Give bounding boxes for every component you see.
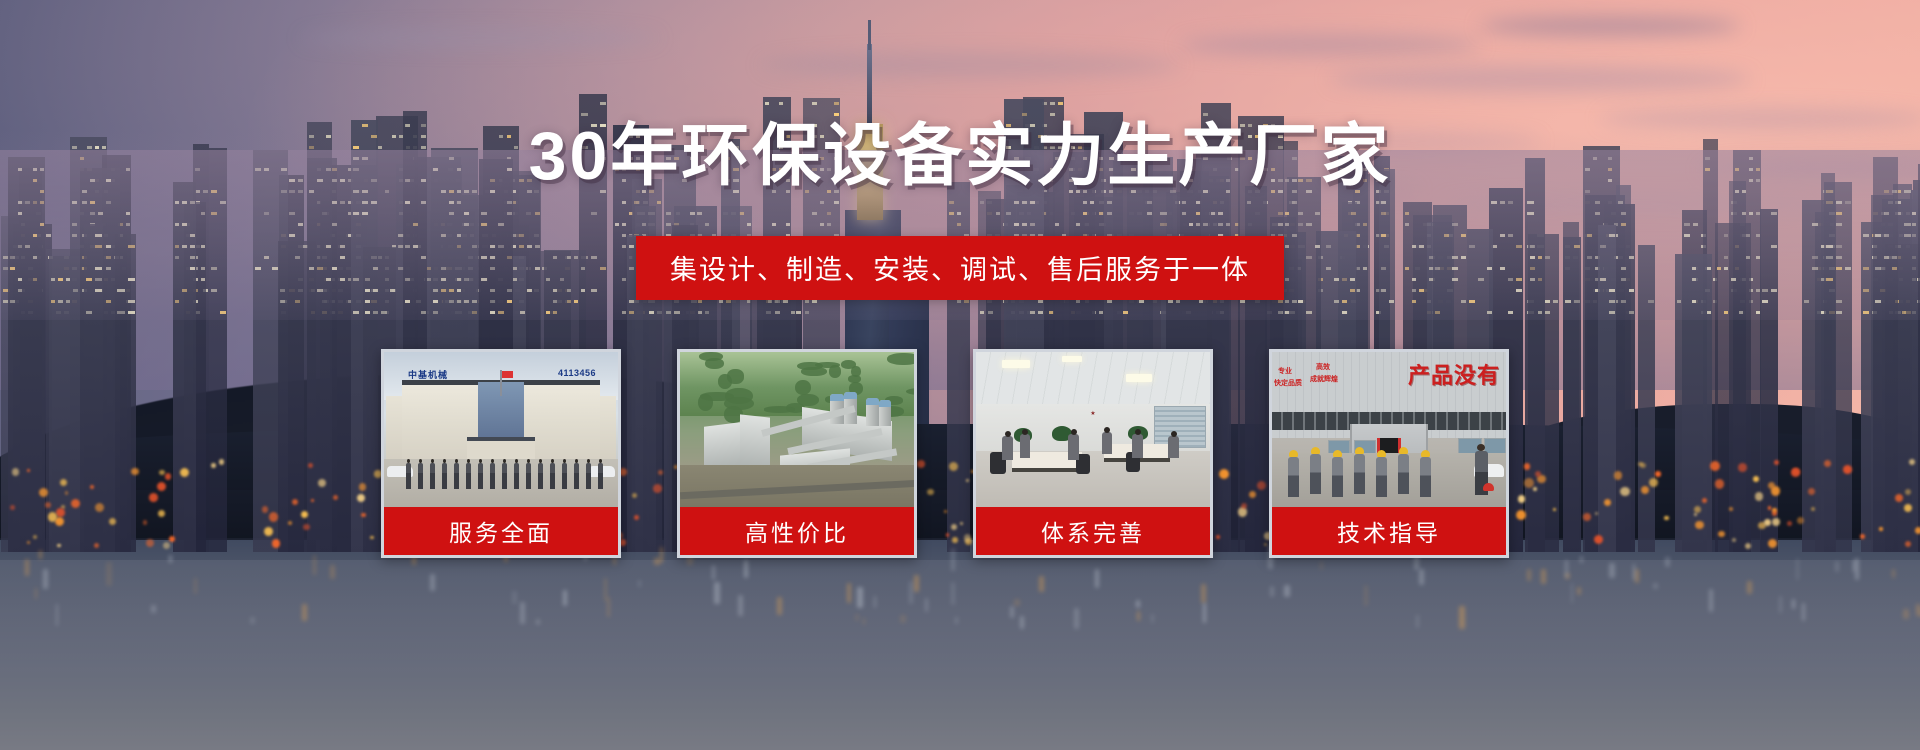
feature-card-system[interactable]: ★ 体系完善 — [973, 349, 1213, 558]
feature-card-label: 高性价比 — [680, 507, 914, 555]
factory-exterior-photo: 产品没有 专业 快定品质 高效 成就辉煌 — [1272, 352, 1506, 507]
subtitle-banner: 集设计、制造、安装、调试、售后服务于一体 — [636, 236, 1284, 300]
page-title: 30年环保设备实力生产厂家 — [0, 100, 1920, 199]
slogan-text-4: 成就辉煌 — [1310, 376, 1338, 384]
office-interior-photo: ★ — [976, 352, 1210, 507]
feature-card-label: 服务全面 — [384, 507, 618, 555]
building-sign-text: 中基机械 — [408, 368, 448, 381]
feature-card-guidance[interactable]: 产品没有 专业 快定品质 高效 成就辉煌 技术指导 — [1269, 349, 1509, 558]
office-building-photo: 中基机械 4113456 — [384, 352, 618, 507]
aerial-plant-photo — [680, 352, 914, 507]
feature-card-value[interactable]: 高性价比 — [677, 349, 917, 558]
building-phone-text: 4113456 — [558, 368, 596, 378]
feature-card-list: 中基机械 4113456 服务全面 — [381, 349, 1541, 497]
feature-card-label: 技术指导 — [1272, 507, 1506, 555]
hero-banner: 30年环保设备实力生产厂家 集设计、制造、安装、调试、售后服务于一体 中基机械 … — [0, 0, 1920, 750]
slogan-text-2: 快定品质 — [1274, 380, 1302, 388]
feature-card-service[interactable]: 中基机械 4113456 服务全面 — [381, 349, 621, 558]
feature-card-label: 体系完善 — [976, 507, 1210, 555]
slogan-text-3: 高效 — [1316, 364, 1330, 372]
factory-sign-text: 产品没有 — [1408, 358, 1500, 390]
wall-logo: ★ — [1090, 410, 1095, 417]
slogan-text-1: 专业 — [1278, 368, 1292, 376]
